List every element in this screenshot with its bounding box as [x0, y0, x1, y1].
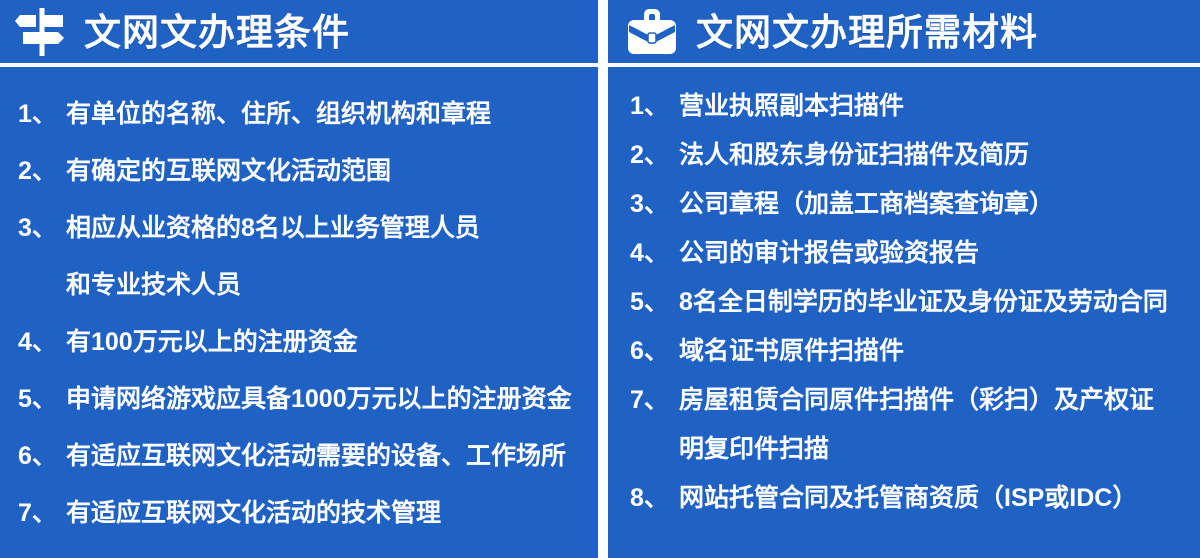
list-item-number: 5、 — [18, 371, 66, 428]
list-item-number: 7、 — [630, 376, 679, 425]
panel-materials-header: 文网文办理所需材料 — [608, 0, 1200, 64]
list-item-number: 6、 — [18, 428, 66, 485]
list-item-number: 3、 — [18, 200, 66, 257]
list-item-number: 4、 — [630, 229, 679, 278]
list-item-text: 相应从业资格的8名以上业务管理人员 — [66, 200, 480, 257]
list-item: 6、 域名证书原件扫描件 — [630, 327, 1200, 376]
panel-materials-title: 文网文办理所需材料 — [696, 14, 1038, 51]
header-divider-right — [608, 63, 1200, 67]
list-item-number: 4、 — [18, 314, 66, 371]
panel-conditions-title: 文网文办理条件 — [84, 14, 350, 51]
list-item-text: 营业执照副本扫描件 — [679, 82, 904, 131]
list-item-number: 7、 — [18, 485, 66, 542]
list-item: 7、 房屋租赁合同原件扫描件（彩扫）及产权证 — [630, 376, 1200, 425]
list-item-text: 有100万元以上的注册资金 — [66, 314, 358, 371]
list-item: 4、 有100万元以上的注册资金 — [18, 314, 598, 371]
list-item-number: 6、 — [630, 327, 679, 376]
list-item-number: 8、 — [630, 474, 679, 523]
list-item-number: 5、 — [630, 278, 679, 327]
list-item-text: 和专业技术人员 — [66, 257, 241, 314]
list-item: 3、 公司章程（加盖工商档案查询章） — [630, 180, 1200, 229]
materials-list: 1、 营业执照副本扫描件 2、 法人和股东身份证扫描件及简历 3、 公司章程（加… — [630, 82, 1200, 523]
list-item: 3、 相应从业资格的8名以上业务管理人员 — [18, 200, 598, 257]
list-item-text: 公司章程（加盖工商档案查询章） — [679, 180, 1054, 229]
list-item: 2、 有确定的互联网文化活动范围 — [18, 143, 598, 200]
list-item-continuation: 7、 明复印件扫描 — [630, 425, 1200, 474]
list-item-text: 法人和股东身份证扫描件及简历 — [679, 131, 1029, 180]
list-item: 5、 8名全日制学历的毕业证及身份证及劳动合同 — [630, 278, 1200, 327]
list-item-text: 有适应互联网文化活动需要的设备、工作场所 — [66, 428, 566, 485]
center-divider — [598, 0, 608, 558]
header-divider-left — [0, 63, 598, 67]
list-item-text: 有适应互联网文化活动的技术管理 — [66, 485, 441, 542]
list-item-number: 2、 — [18, 143, 66, 200]
list-item-text: 8名全日制学历的毕业证及身份证及劳动合同 — [679, 278, 1168, 327]
panel-materials: 文网文办理所需材料 1、 营业执照副本扫描件 2、 法人和股东身份证扫描件及简历… — [608, 0, 1200, 558]
list-item-text: 有确定的互联网文化活动范围 — [66, 143, 391, 200]
panel-materials-body: 1、 营业执照副本扫描件 2、 法人和股东身份证扫描件及简历 3、 公司章程（加… — [608, 64, 1200, 558]
list-item-text: 申请网络游戏应具备1000万元以上的注册资金 — [66, 371, 572, 428]
list-item-text: 房屋租赁合同原件扫描件（彩扫）及产权证 — [679, 376, 1154, 425]
list-item: 8、 网站托管合同及托管商资质（ISP或IDC） — [630, 474, 1200, 523]
panel-conditions-body: 1、 有单位的名称、住所、组织机构和章程 2、 有确定的互联网文化活动范围 3、… — [0, 64, 598, 558]
list-item: 4、 公司的审计报告或验资报告 — [630, 229, 1200, 278]
list-item: 7、 有适应互联网文化活动的技术管理 — [18, 485, 598, 542]
list-item-text: 网站托管合同及托管商资质（ISP或IDC） — [679, 474, 1137, 523]
list-item: 5、 申请网络游戏应具备1000万元以上的注册资金 — [18, 371, 598, 428]
list-item-number: 2、 — [630, 131, 679, 180]
list-item: 1、 营业执照副本扫描件 — [630, 82, 1200, 131]
list-item: 6、 有适应互联网文化活动需要的设备、工作场所 — [18, 428, 598, 485]
briefcase-icon — [624, 4, 680, 60]
list-item-number: 1、 — [630, 82, 679, 131]
conditions-list: 1、 有单位的名称、住所、组织机构和章程 2、 有确定的互联网文化活动范围 3、… — [18, 86, 598, 542]
signpost-icon — [14, 4, 70, 60]
list-item: 2、 法人和股东身份证扫描件及简历 — [630, 131, 1200, 180]
panel-conditions-header: 文网文办理条件 — [0, 0, 598, 64]
list-item-text: 域名证书原件扫描件 — [679, 327, 904, 376]
panel-conditions: 文网文办理条件 1、 有单位的名称、住所、组织机构和章程 2、 有确定的互联网文… — [0, 0, 598, 558]
list-item-text: 有单位的名称、住所、组织机构和章程 — [66, 86, 491, 143]
list-item-number: 1、 — [18, 86, 66, 143]
list-item-text: 公司的审计报告或验资报告 — [679, 229, 979, 278]
list-item-number: 3、 — [630, 180, 679, 229]
list-item: 1、 有单位的名称、住所、组织机构和章程 — [18, 86, 598, 143]
infographic-root: 文网文办理条件 1、 有单位的名称、住所、组织机构和章程 2、 有确定的互联网文… — [0, 0, 1200, 558]
list-item-continuation: 3、 和专业技术人员 — [18, 257, 598, 314]
list-item-text: 明复印件扫描 — [679, 425, 829, 474]
